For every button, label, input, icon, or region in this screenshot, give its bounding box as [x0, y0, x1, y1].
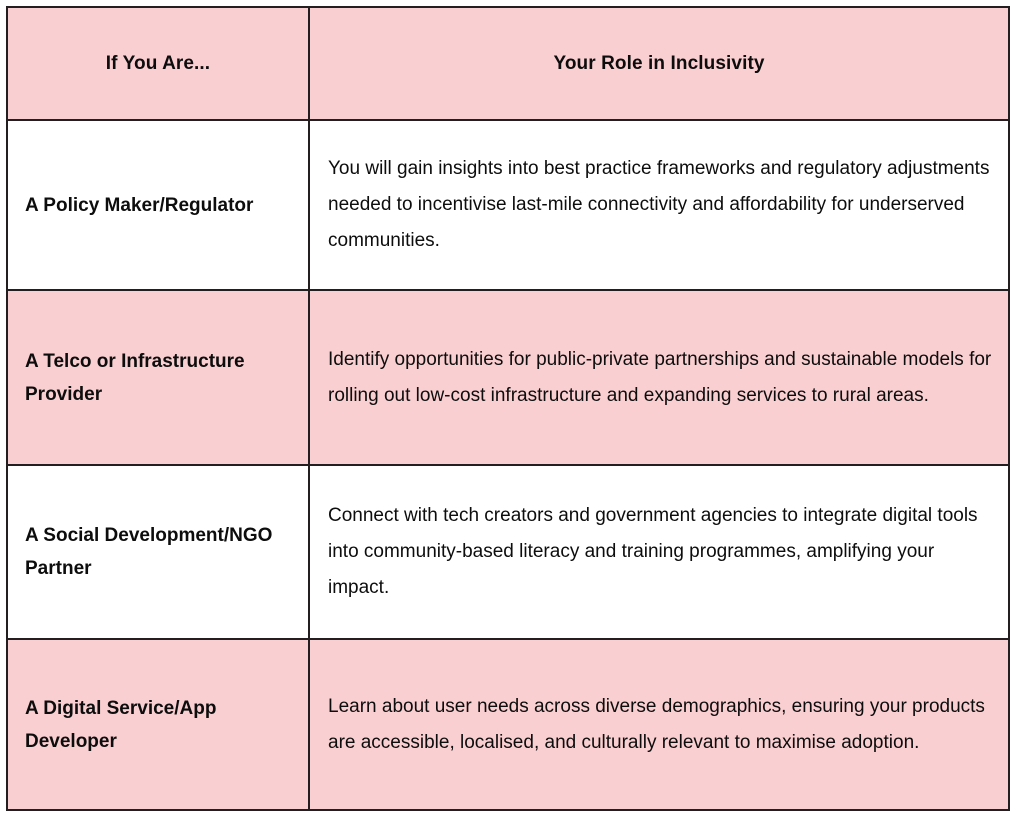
table-row: A Social Development/NGO Partner Connect… — [7, 465, 1009, 639]
row-description-telco-infrastructure-provider: Identify opportunities for public-privat… — [309, 290, 1009, 465]
table-header-row: If You Are... Your Role in Inclusivity — [7, 7, 1009, 120]
table-row: A Telco or Infrastructure Provider Ident… — [7, 290, 1009, 465]
table-header: If You Are... Your Role in Inclusivity — [7, 7, 1009, 120]
row-description-social-development-ngo-partner: Connect with tech creators and governmen… — [309, 465, 1009, 639]
row-label-telco-infrastructure-provider: A Telco or Infrastructure Provider — [7, 290, 309, 465]
column-header-if-you-are: If You Are... — [7, 7, 309, 120]
row-label-social-development-ngo-partner: A Social Development/NGO Partner — [7, 465, 309, 639]
table-body: A Policy Maker/Regulator You will gain i… — [7, 120, 1009, 810]
column-header-your-role-in-inclusivity: Your Role in Inclusivity — [309, 7, 1009, 120]
inclusivity-roles-table: If You Are... Your Role in Inclusivity A… — [6, 6, 1010, 811]
page-container: If You Are... Your Role in Inclusivity A… — [0, 0, 1024, 816]
table-row: A Digital Service/App Developer Learn ab… — [7, 639, 1009, 810]
table-row: A Policy Maker/Regulator You will gain i… — [7, 120, 1009, 290]
row-label-digital-service-app-developer: A Digital Service/App Developer — [7, 639, 309, 810]
row-label-policy-maker-regulator: A Policy Maker/Regulator — [7, 120, 309, 290]
row-description-policy-maker-regulator: You will gain insights into best practic… — [309, 120, 1009, 290]
row-description-digital-service-app-developer: Learn about user needs across diverse de… — [309, 639, 1009, 810]
